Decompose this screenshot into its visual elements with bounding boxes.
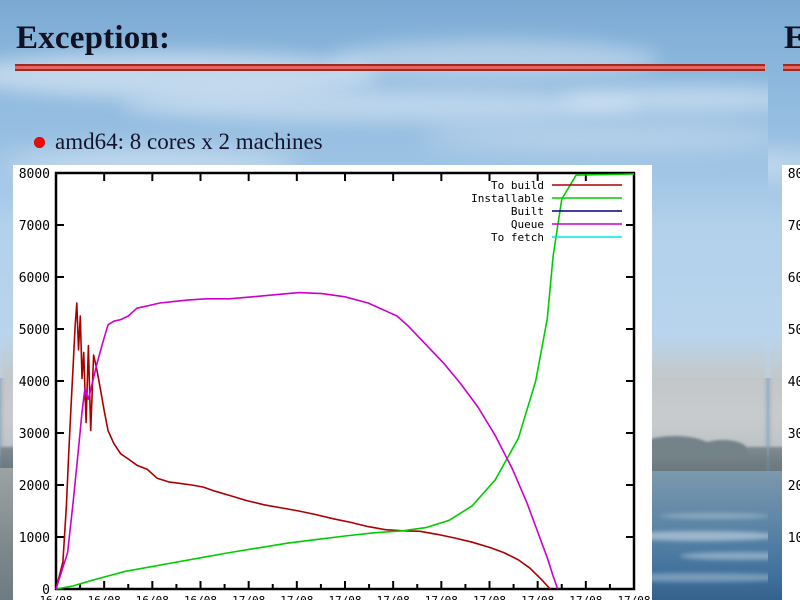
wave-crest (660, 513, 768, 519)
x-axis-tick-label: 17/08 (425, 594, 458, 600)
y-axis-tick-label: 7000 (19, 219, 50, 234)
x-axis-tick-label: 16/08 (88, 594, 121, 600)
y-axis-tick-label: 2000 (788, 479, 800, 494)
slide-next[interactable]: Exception: 01000200030004000500060007000… (768, 0, 800, 600)
y-axis-tick-label: 1000 (788, 531, 800, 546)
x-axis-tick-label: 17/08 (569, 594, 602, 600)
x-axis-tick-label: 17/08 (377, 594, 410, 600)
y-axis-tick-label: 5000 (19, 323, 50, 338)
y-axis-tick-label: 6000 (19, 271, 50, 286)
cloud-shape (120, 88, 640, 122)
x-axis-tick-label: 17/08 (473, 594, 506, 600)
y-axis-tick-label: 8000 (788, 167, 800, 182)
y-axis-tick-label: 3000 (788, 427, 800, 442)
bullet-marker-icon (34, 137, 45, 148)
x-axis-tick-label: 16/08 (184, 594, 217, 600)
presentation-stage: Exception: amd64: 8 cores x 2 machines 0… (0, 0, 800, 600)
legend-label-to-build: To build (491, 179, 544, 192)
x-axis-tick-label: 17/08 (280, 594, 313, 600)
x-axis-tick-label: 16/08 (39, 594, 72, 600)
build-progress-line-chart: 01000200030004000500060007000800016/0816… (13, 165, 652, 600)
title-underline-rule (15, 64, 765, 71)
legend-label-installable: Installable (471, 192, 544, 205)
y-axis-tick-label: 3000 (19, 427, 50, 442)
distant-hill (700, 440, 746, 456)
y-axis-tick-label: 5000 (788, 323, 800, 338)
x-axis-tick-label: 17/08 (521, 594, 554, 600)
y-axis-tick-label: 7000 (788, 219, 800, 234)
y-axis-tick-label: 4000 (19, 375, 50, 390)
x-axis-tick-label: 17/08 (232, 594, 265, 600)
bullet-item: amd64: 8 cores x 2 machines (34, 129, 323, 155)
build-progress-line-chart-next: 01000200030004000500060007000800016/0816… (782, 165, 800, 600)
plot-frame (56, 173, 634, 589)
y-axis-tick-label: 1000 (19, 531, 50, 546)
x-axis-tick-label: 16/08 (136, 594, 169, 600)
bullet-item-label: amd64: 8 cores x 2 machines (55, 129, 323, 155)
page-title: Exception: (16, 20, 170, 57)
title-underline-rule (783, 64, 800, 71)
page-title-next: Exception: (784, 20, 800, 57)
y-axis-tick-label: 2000 (19, 479, 50, 494)
chart-container-next: 01000200030004000500060007000800016/0816… (782, 165, 800, 600)
x-axis-tick-label: 17/08 (617, 594, 650, 600)
legend-label-to-fetch: To fetch (491, 231, 544, 244)
y-axis-tick-label: 4000 (788, 375, 800, 390)
y-axis-tick-label: 8000 (19, 167, 50, 182)
legend-label-built: Built (511, 205, 544, 218)
chart-container: 01000200030004000500060007000800016/0816… (13, 165, 652, 600)
y-axis-tick-label: 6000 (788, 271, 800, 286)
slide-current: Exception: amd64: 8 cores x 2 machines 0… (0, 0, 768, 600)
cloud-shape (330, 40, 660, 80)
legend-label-queue: Queue (511, 218, 544, 231)
x-axis-tick-label: 17/08 (328, 594, 361, 600)
